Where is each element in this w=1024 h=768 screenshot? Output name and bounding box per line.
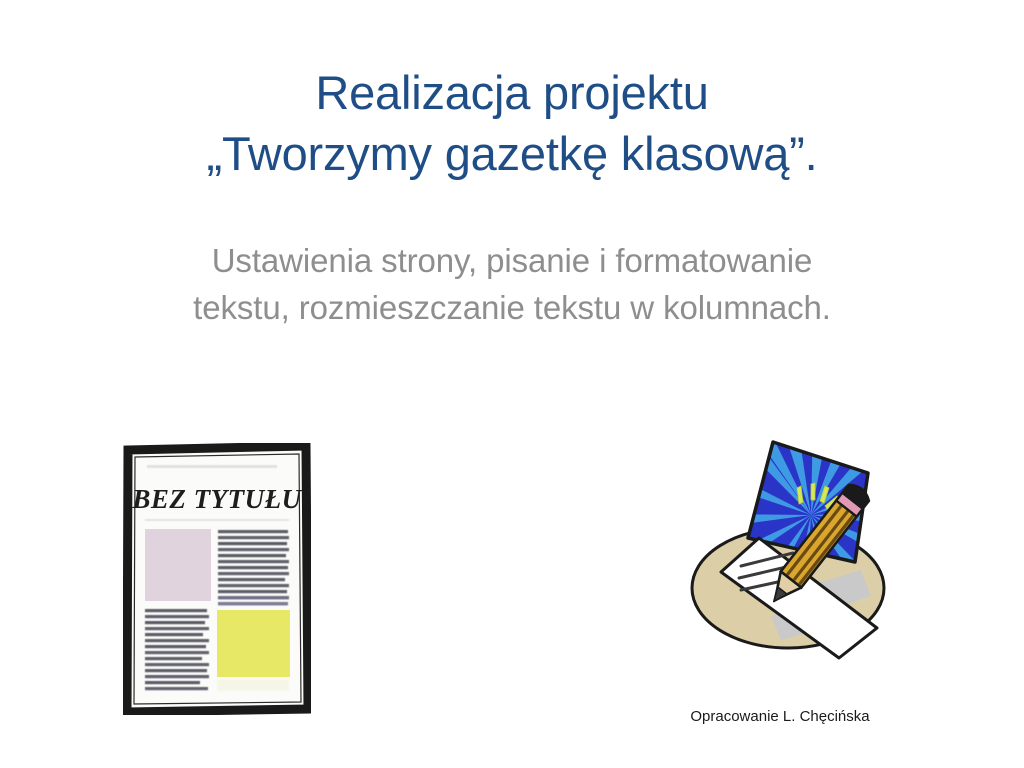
newspaper-yellow-block (217, 610, 290, 677)
slide-canvas: Realizacja projektu „Tworzymy gazetkę kl… (0, 0, 1024, 768)
page-title: Realizacja projektu „Tworzymy gazetkę kl… (60, 62, 964, 184)
subtitle-line-2: tekstu, rozmieszczanie tekstu w kolumnac… (60, 285, 964, 332)
newspaper-illustration: BEZ TYTUŁU (123, 443, 311, 715)
pencil-illustration (655, 420, 920, 685)
newspaper-headline: BEZ TYTUŁU (131, 484, 302, 514)
newspaper-headline-rule (145, 519, 289, 521)
pencil-and-paper-clipart (655, 420, 920, 685)
title-line-1: Realizacja projektu (60, 62, 964, 123)
page-subtitle: Ustawienia strony, pisanie i formatowani… (60, 238, 964, 332)
author-caption: Opracowanie L. Chęcińska (620, 708, 940, 726)
newspaper-masthead-smudge (147, 465, 277, 468)
subtitle-line-1: Ustawienia strony, pisanie i formatowani… (60, 238, 964, 285)
title-line-2: „Tworzymy gazetkę klasową”. (60, 123, 964, 184)
newspaper-pink-block (145, 529, 211, 601)
newspaper-clipart: BEZ TYTUŁU (123, 443, 311, 715)
newspaper-bottom-strip (217, 679, 289, 691)
